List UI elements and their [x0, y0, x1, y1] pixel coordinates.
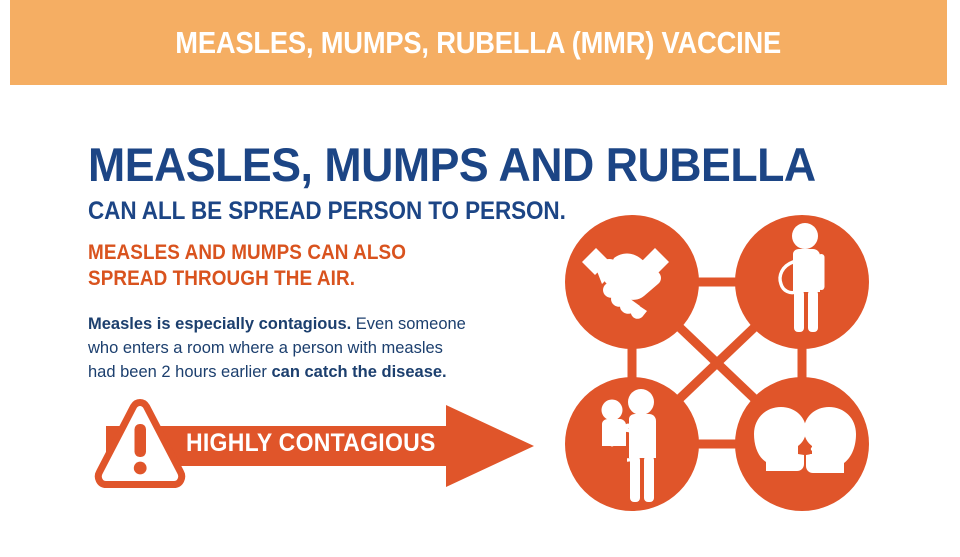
network-node-parent-and-child: [565, 377, 699, 511]
header-title: MEASLES, MUMPS, RUBELLA (MMR) VACCINE: [176, 25, 782, 61]
paragraph-bold-lead: Measles is especially contagious.: [88, 315, 351, 333]
headline-primary: MEASLES, MUMPS AND RUBELLA: [88, 140, 535, 190]
left-text-column: MEASLES, MUMPS AND RUBELLA CAN ALL BE SP…: [88, 140, 558, 384]
airborne-spread-note: MEASLES AND MUMPS CAN ALSO SPREAD THROUG…: [88, 240, 448, 292]
network-node-sneezing-heads: [735, 377, 869, 511]
arrow-banner-label: HIGHLY CONTAGIOUS: [186, 429, 436, 458]
warning-triangle-icon: [98, 403, 181, 485]
contagious-description: Measles is especially contagious. Even s…: [88, 312, 468, 384]
paragraph-bold-tail: can catch the disease.: [271, 363, 446, 381]
network-diagram-graphic: [552, 214, 892, 514]
transmission-network-diagram: [552, 214, 892, 514]
network-node-pregnant-person: [735, 215, 869, 349]
header-banner: MEASLES, MUMPS, RUBELLA (MMR) VACCINE: [10, 0, 947, 85]
network-node-handshake: [565, 215, 699, 349]
highly-contagious-banner: HIGHLY CONTAGIOUS: [88, 396, 543, 496]
headline-secondary: CAN ALL BE SPREAD PERSON TO PERSON.: [88, 196, 511, 226]
